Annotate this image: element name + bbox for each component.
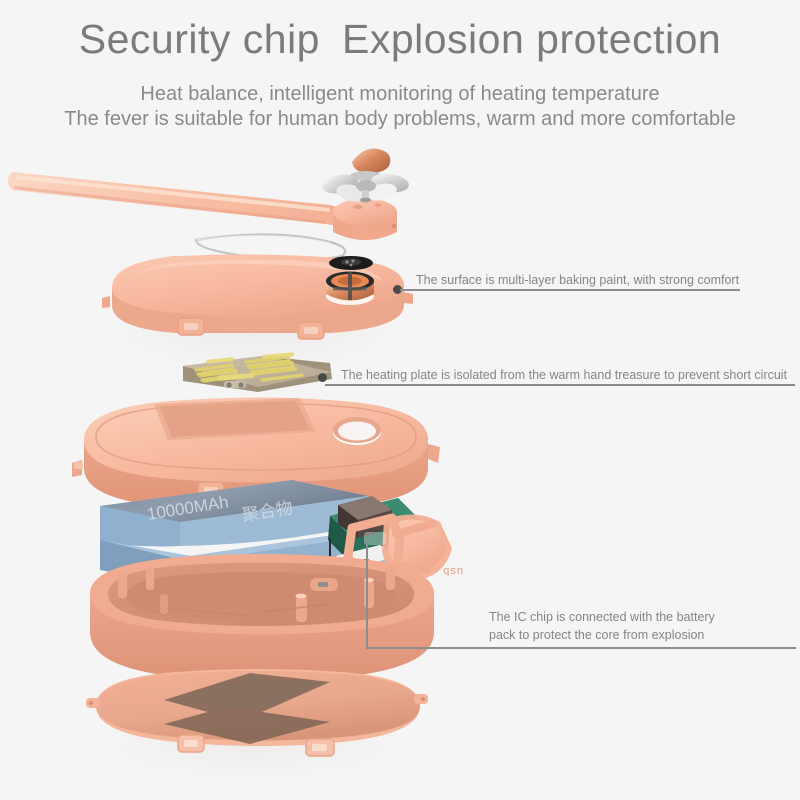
surface-callout-text: The surface is multi-layer baking paint,…: [416, 272, 739, 289]
wrist-strap: [8, 172, 362, 230]
surface-callout-line: [400, 289, 740, 291]
bottom-cover: [86, 669, 428, 780]
ic-chip-callout-text-line-2: pack to protect the core from explosion: [489, 627, 704, 644]
heating-plate-callout-dot: [318, 373, 327, 382]
usb-tab-label: usb: [442, 565, 463, 577]
ic-chip-callout-text-line-1: The IC chip is connected with the batter…: [489, 609, 715, 626]
bottom-shell: [90, 554, 434, 681]
heating-plate-callout-text: The heating plate is isolated from the w…: [341, 367, 787, 384]
ic-chip-callout-line: [366, 647, 796, 649]
fan-blade-assembly: [321, 149, 410, 205]
strap-head-disc: [333, 199, 397, 241]
metal-contact-ring: [326, 256, 374, 305]
exploded-product-illustration: 10000MAh 聚合物: [0, 0, 800, 800]
top-shell-cover: [102, 254, 413, 370]
infographic-canvas: Security chipExplosion protection Heat b…: [0, 0, 800, 800]
ic-chip-callout-elbow-vertical: [366, 538, 368, 648]
heating-plate-callout-line: [325, 384, 795, 386]
